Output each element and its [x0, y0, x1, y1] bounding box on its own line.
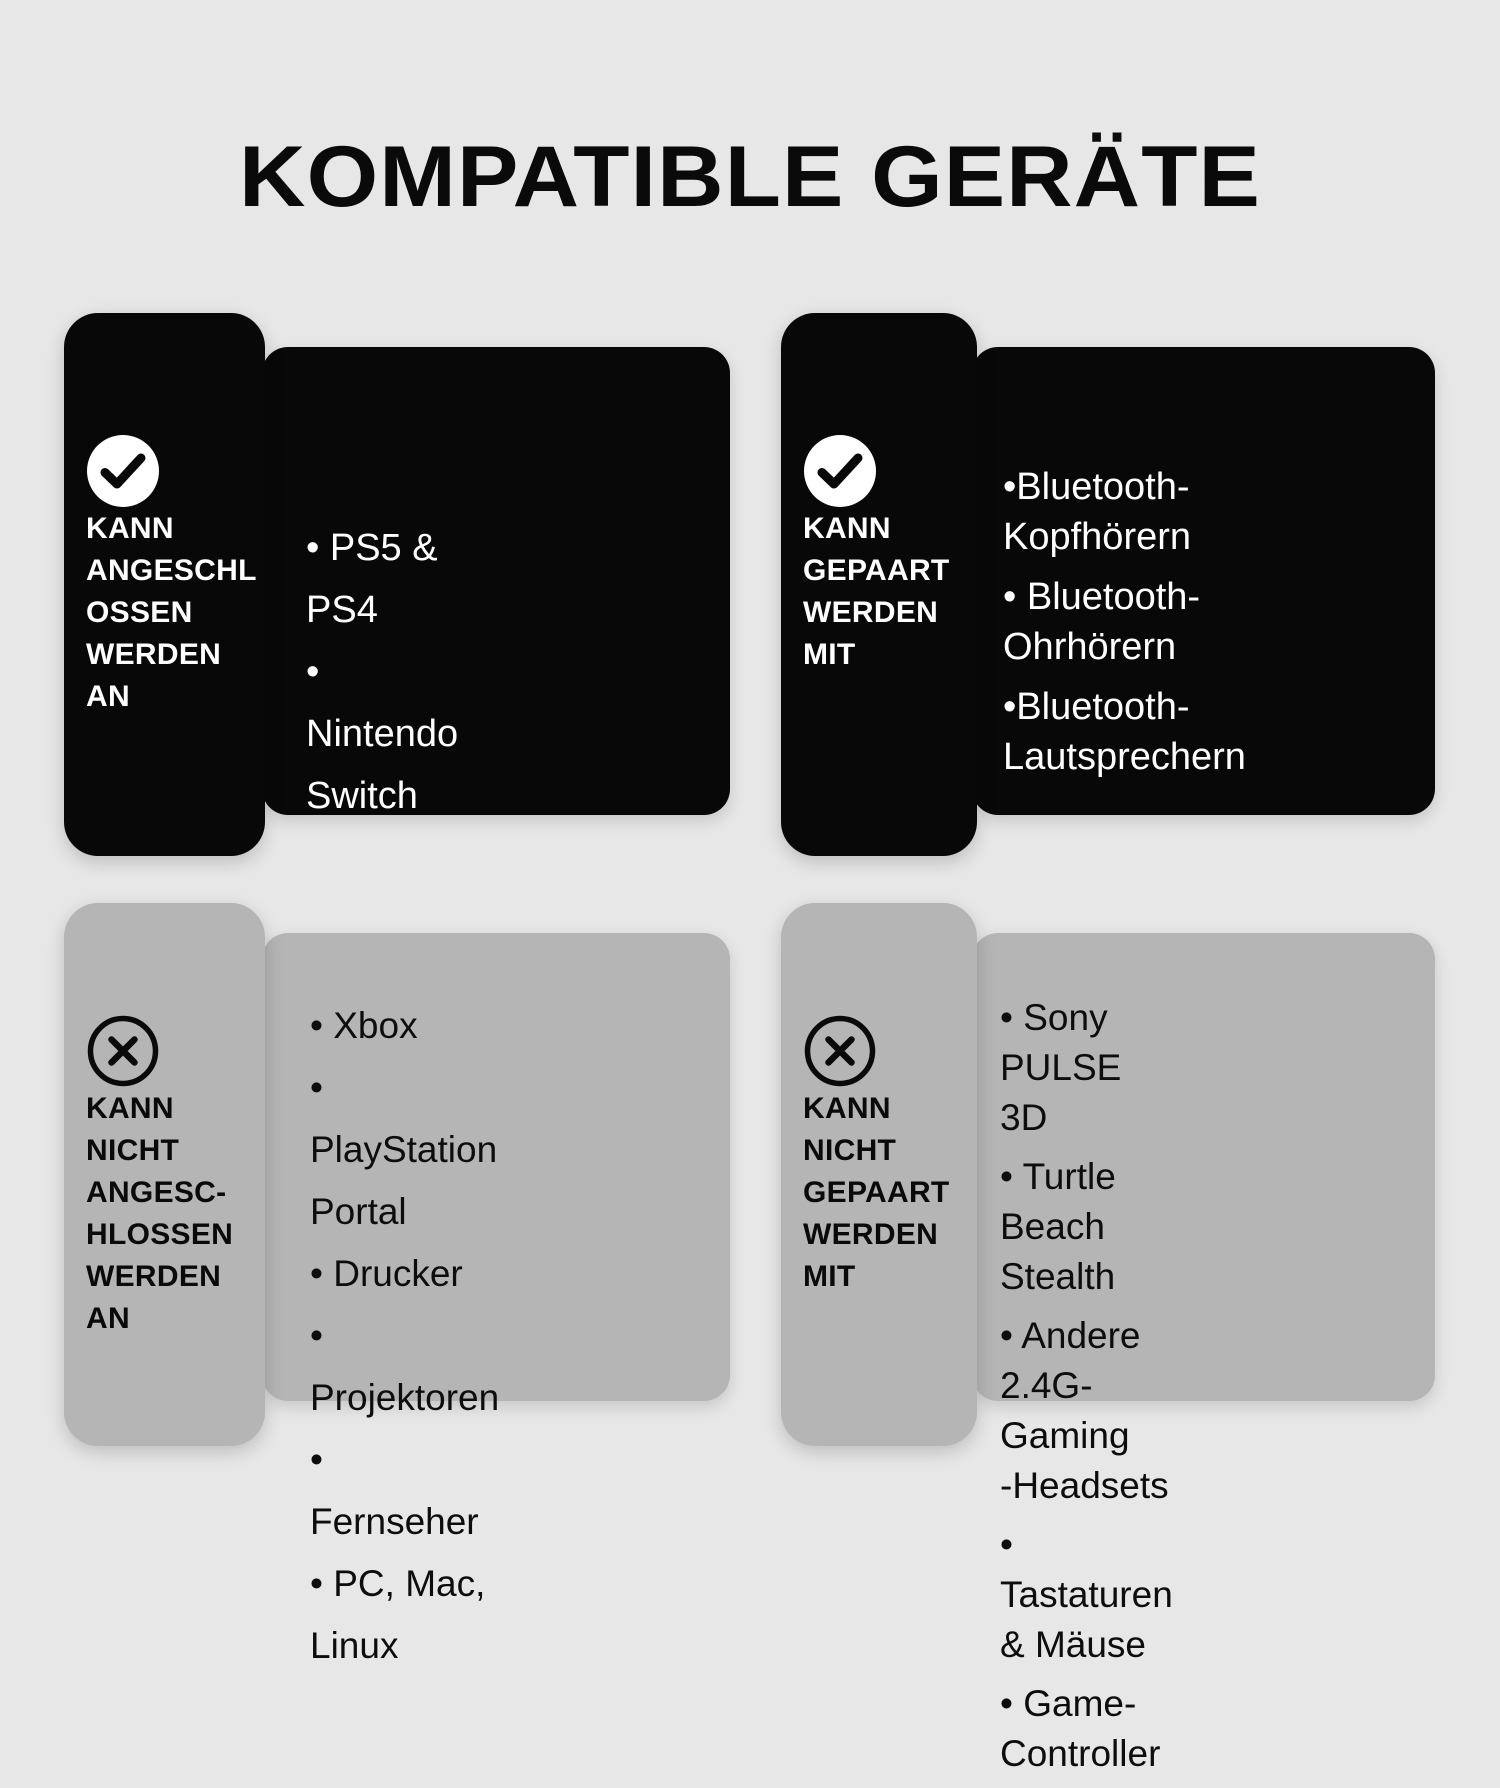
list-item: • Bluetooth-Ohrhörern — [1003, 572, 1246, 672]
list-item: • Game-Controller — [1000, 1679, 1173, 1779]
card-label-text: KANN NICHT GEPAART WERDEN MIT — [803, 1088, 950, 1298]
compatible-list: • PS5 & PS4 • Nintendo Switch — [306, 517, 458, 827]
cross-circle-icon — [86, 1014, 160, 1088]
list-item: • Projektoren — [310, 1305, 499, 1429]
list-item: • PC, Mac, Linux — [310, 1553, 499, 1677]
incompatible-list: • Xbox • PlayStation Portal • Drucker • … — [310, 995, 499, 1677]
list-item: • Nintendo Switch — [306, 641, 458, 827]
list-item: • PlayStation Portal — [310, 1057, 499, 1243]
card-label-panel: KANN ANGESCHL OSSEN WERDEN AN — [64, 313, 265, 856]
list-item: • Sony PULSE 3D — [1000, 993, 1173, 1143]
list-item: • Drucker — [310, 1243, 499, 1305]
card-label-panel: KANN GEPAART WERDEN MIT — [781, 313, 977, 856]
card-label-text: KANN GEPAART WERDEN MIT — [803, 508, 950, 676]
pairable-list: •Bluetooth-Kopfhörern • Bluetooth-Ohrhör… — [1003, 462, 1246, 792]
list-item: • Xbox — [310, 995, 499, 1057]
card-label-text: KANN ANGESCHL OSSEN WERDEN AN — [86, 508, 257, 718]
list-item: •Bluetooth-Kopfhörern — [1003, 462, 1246, 562]
cross-circle-icon — [803, 1014, 877, 1088]
card-label-panel: KANN NICHT ANGESC- HLOSSEN WERDEN AN — [64, 903, 265, 1446]
list-item: • Turtle Beach Stealth — [1000, 1152, 1173, 1302]
non-pairable-list: • Sony PULSE 3D • Turtle Beach Stealth •… — [1000, 993, 1173, 1788]
check-circle-icon — [86, 434, 160, 508]
page-title: KOMPATIBLE GERÄTE — [0, 128, 1500, 227]
card-label-panel: KANN NICHT GEPAART WERDEN MIT — [781, 903, 977, 1446]
list-item: • PS5 & PS4 — [306, 517, 458, 641]
list-item: • Tastaturen & Mäuse — [1000, 1520, 1173, 1670]
list-item: • Fernseher — [310, 1429, 499, 1553]
check-circle-icon — [803, 434, 877, 508]
list-item: •Bluetooth- Lautsprechern — [1003, 682, 1246, 782]
list-item: • Andere 2.4G-Gaming -Headsets — [1000, 1311, 1173, 1511]
card-label-text: KANN NICHT ANGESC- HLOSSEN WERDEN AN — [86, 1088, 233, 1340]
